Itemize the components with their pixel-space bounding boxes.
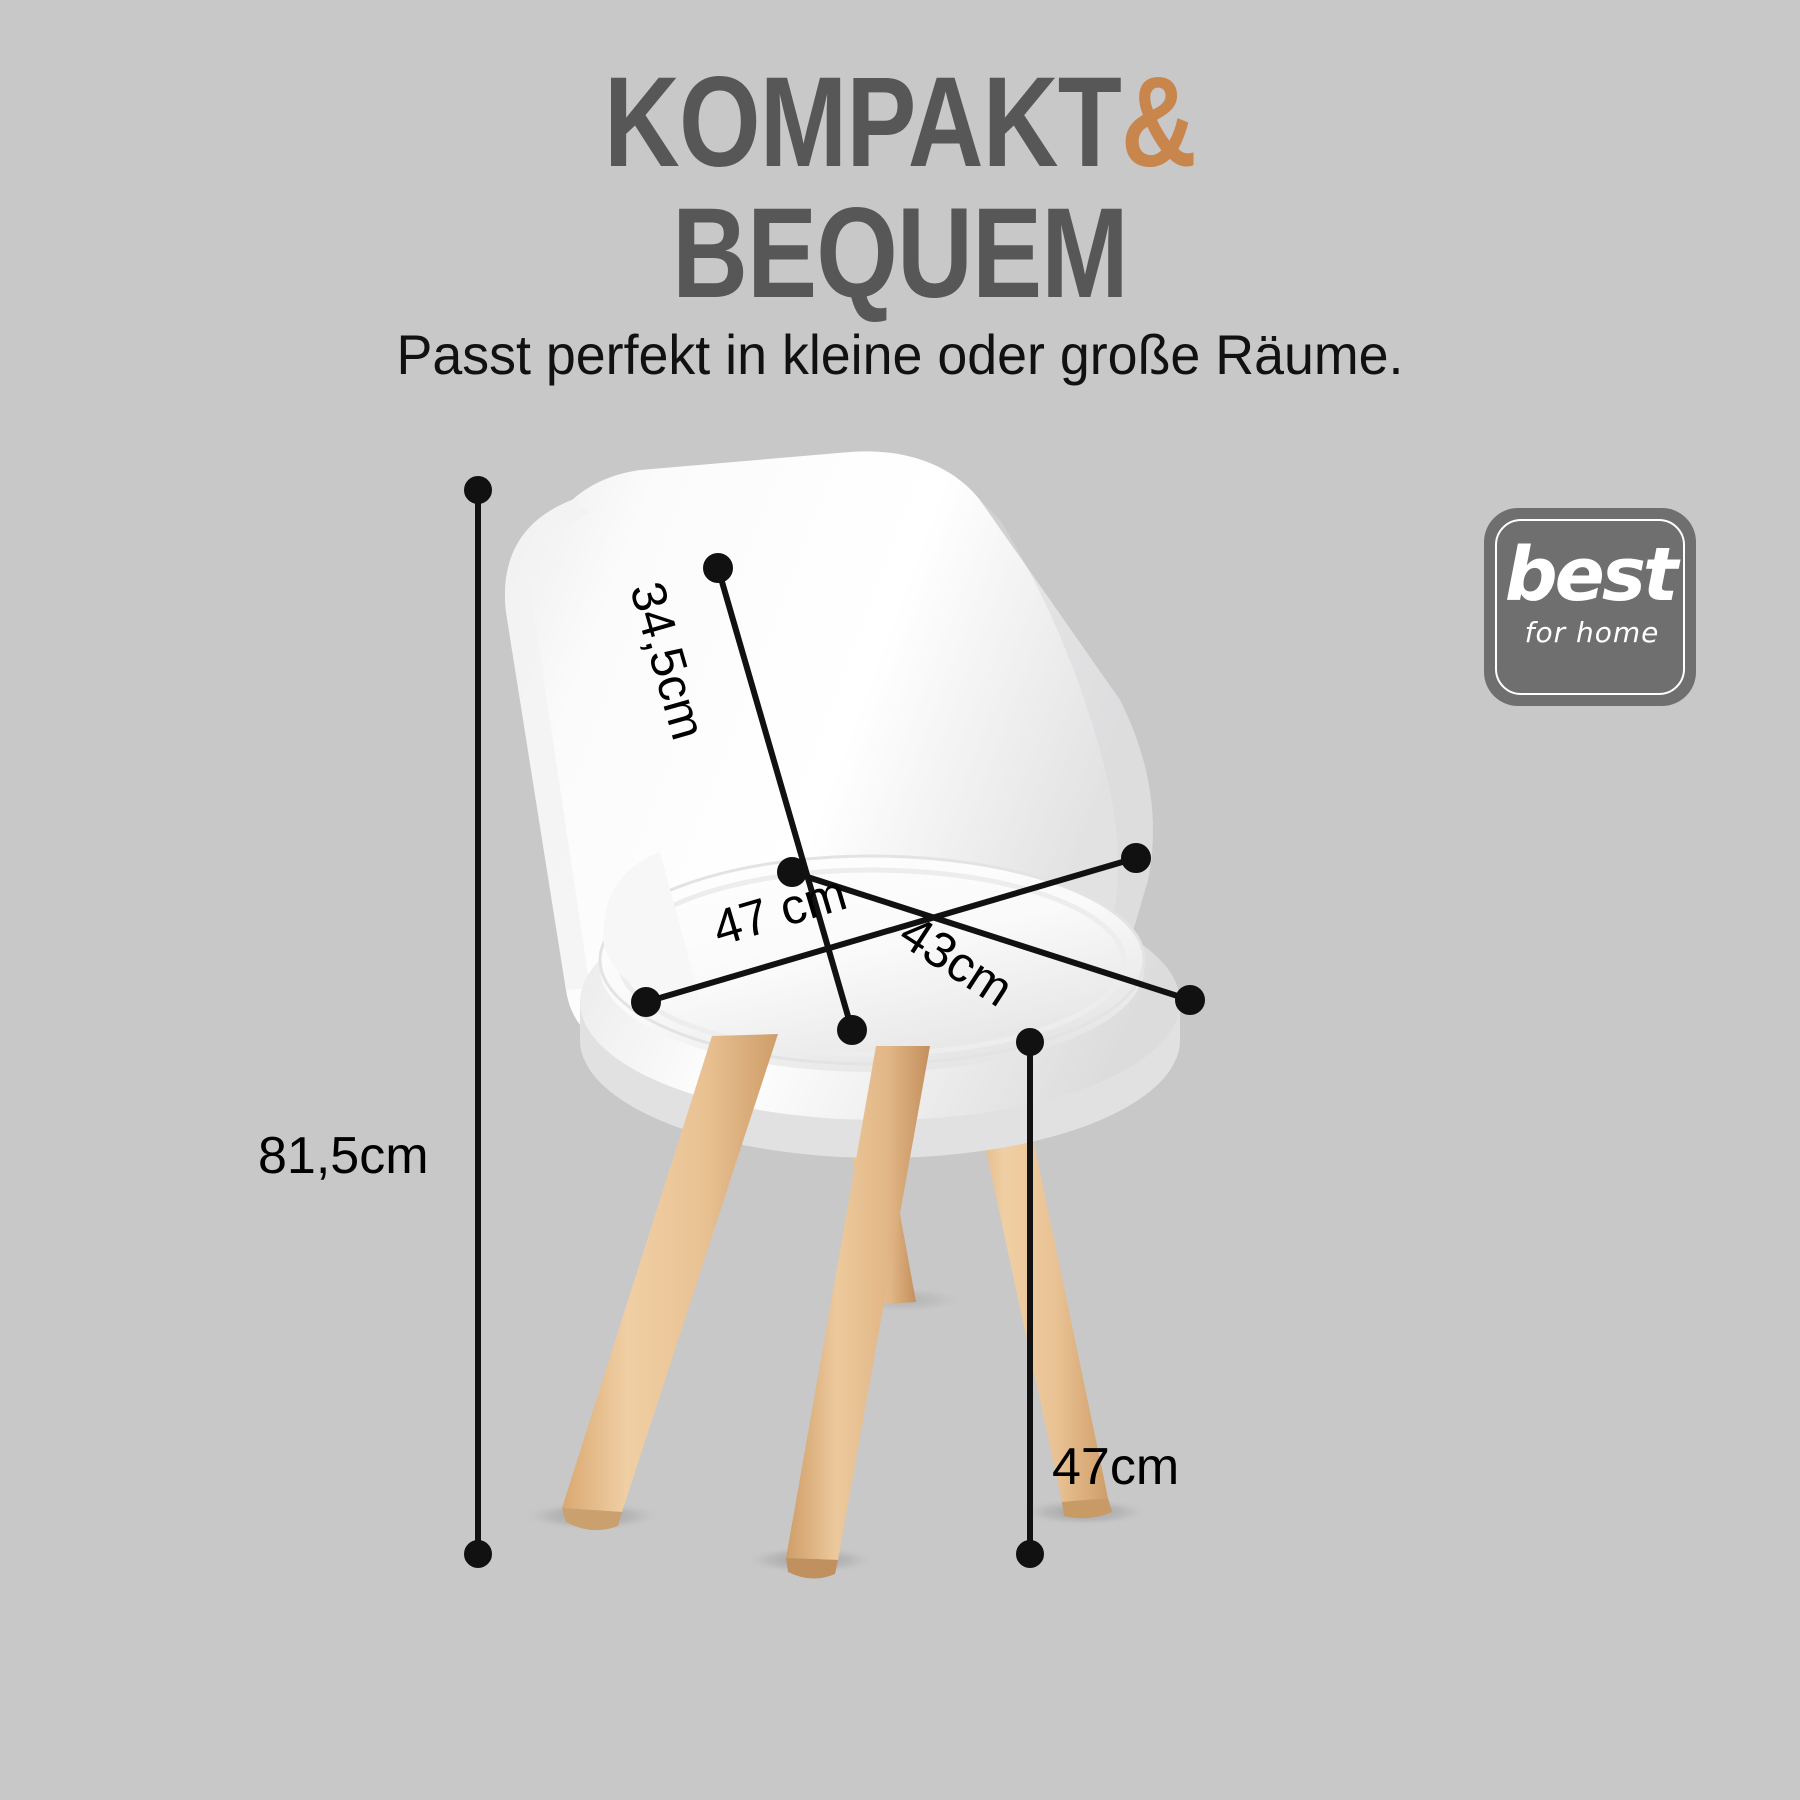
dimension-label-seat-height: 47cm: [1052, 1437, 1179, 1497]
dimension-overlay: [0, 0, 1800, 1800]
dimension-label-height: 81,5cm: [258, 1126, 429, 1186]
infographic-canvas: KOMPAKT& BEQUEM Passt perfekt in kleine …: [0, 0, 1800, 1800]
